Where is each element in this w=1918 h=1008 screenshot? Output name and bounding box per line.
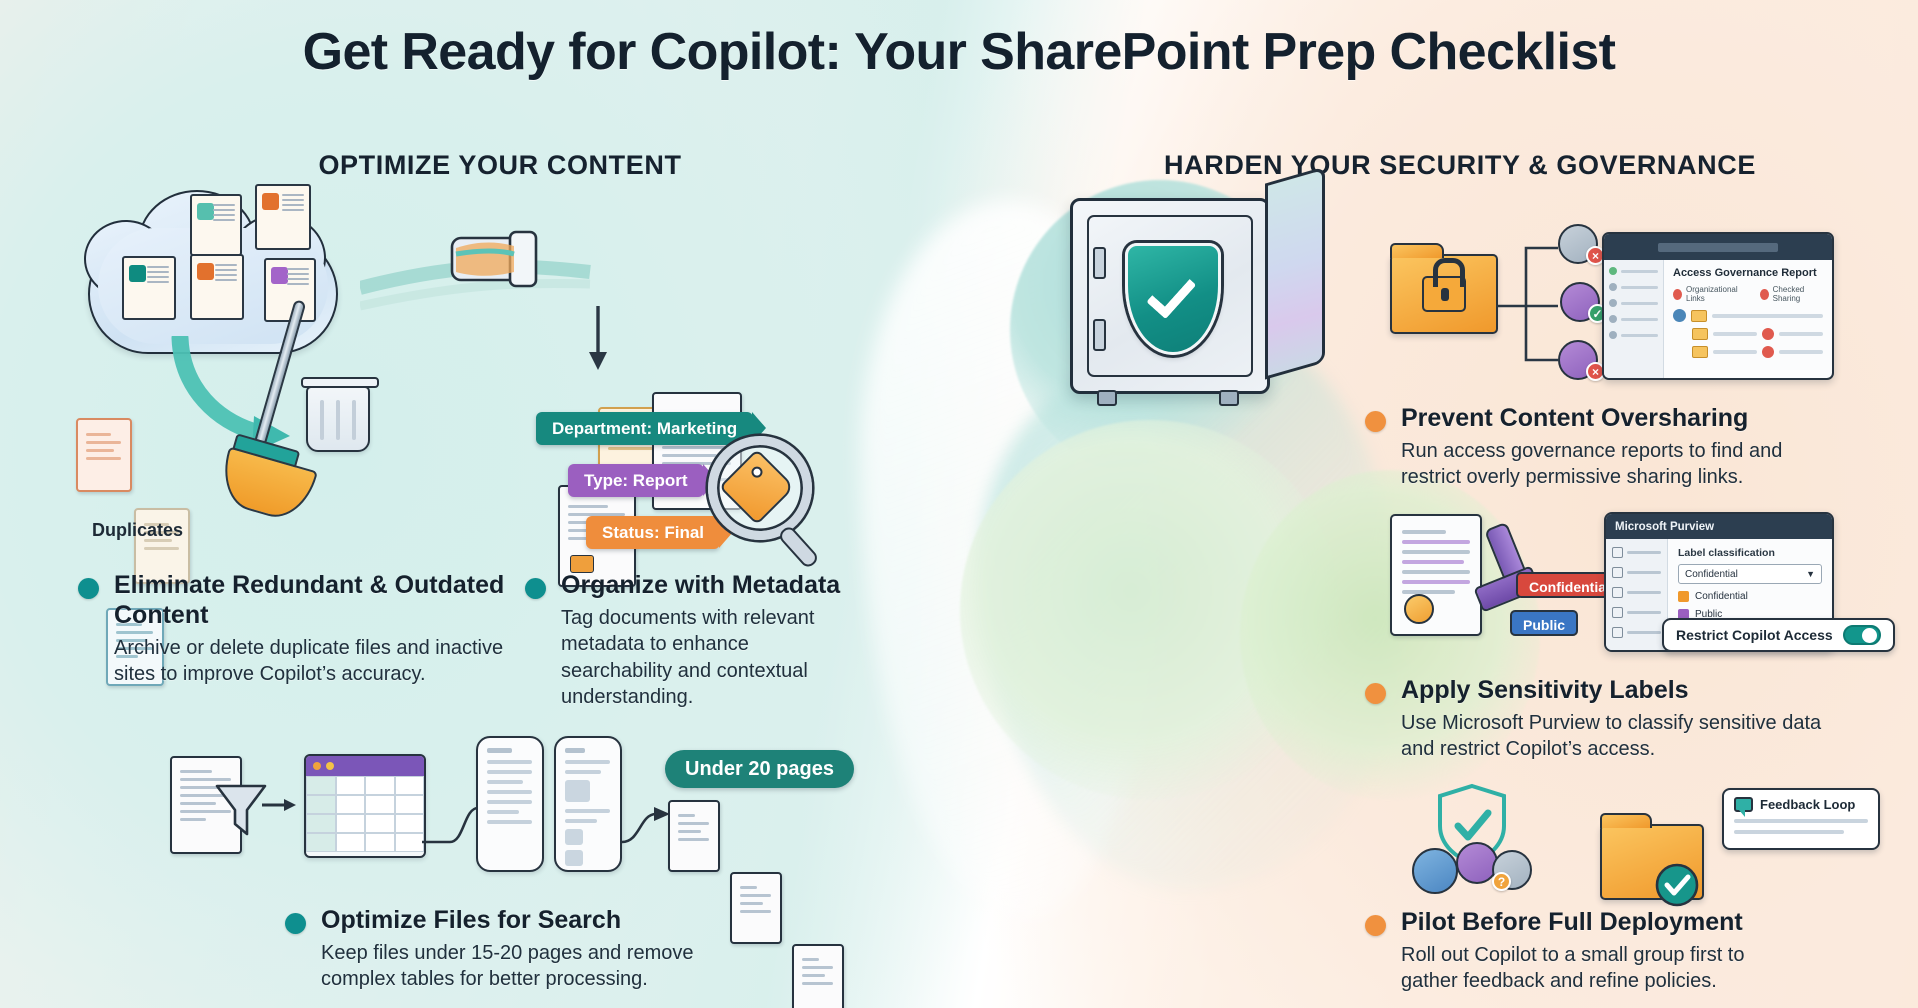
pilot-badge-icon: ? (1492, 872, 1511, 891)
label-classification-value: Confidential (1685, 569, 1738, 580)
vault-foot (1219, 390, 1239, 406)
sidebar-row (1609, 315, 1658, 323)
purview-nav-item (1612, 627, 1661, 638)
legend-item-2: Checked Sharing (1760, 285, 1823, 303)
report-row (1673, 309, 1823, 322)
checklist-item-organize-body: Tag documents with relevant metadata to … (561, 605, 855, 711)
checklist-item-sensitivity: Apply Sensitivity Labels Use Microsoft P… (1365, 675, 1855, 763)
metadata-tag-status: Status: Final (586, 516, 720, 549)
flow-connector-1-icon (422, 802, 482, 848)
table-ui-titlebar (306, 756, 424, 776)
optimized-doc (730, 872, 782, 944)
checklist-item-eliminate: Eliminate Redundant & Outdated Content A… (78, 570, 508, 688)
feedback-line (1734, 830, 1844, 834)
sidebar-row (1609, 283, 1658, 291)
duplicates-label: Duplicates (92, 520, 183, 541)
complex-table-ui (304, 754, 426, 858)
illustration-pilot-deployment: ? (1400, 790, 1620, 920)
pilot-user-1 (1412, 848, 1458, 894)
checklist-item-pilot-title: Pilot Before Full Deployment (1401, 907, 1805, 937)
report-title: Access Governance Report (1673, 267, 1823, 279)
long-scroll-doc-2 (554, 736, 622, 872)
vault-side-panel (1265, 166, 1325, 379)
checkmark-icon (1146, 268, 1196, 320)
illustration-access-governance: × ✓ × (1390, 222, 1620, 382)
label-classification-select[interactable]: Confidential ▼ (1678, 564, 1822, 584)
folder-tab (1390, 243, 1444, 258)
bullet-icon (78, 578, 99, 599)
folder-check-icon (1654, 862, 1700, 908)
checklist-item-oversharing: Prevent Content Oversharing Run access g… (1365, 403, 1825, 491)
report-row (1673, 346, 1823, 358)
report-row (1673, 328, 1823, 340)
long-scroll-doc-1 (476, 736, 544, 872)
vault-hinge-icon (1093, 319, 1106, 351)
restrict-copilot-access-toggle[interactable] (1843, 625, 1881, 645)
vault-foot (1097, 390, 1117, 406)
page-title: Get Ready for Copilot: Your SharePoint P… (0, 22, 1918, 82)
section-heading-left: OPTIMIZE YOUR CONTENT (120, 150, 880, 181)
document-seal-icon (1404, 594, 1434, 624)
checklist-item-sensitivity-title: Apply Sensitivity Labels (1401, 675, 1855, 705)
sensitivity-pill-public: Public (1510, 610, 1578, 636)
optimized-doc (792, 944, 844, 1008)
checklist-item-organize-title: Organize with Metadata (561, 570, 855, 600)
folder-tab (1600, 813, 1652, 828)
illustration-metadata-pipeline (360, 210, 720, 410)
checklist-item-organize: Organize with Metadata Tag documents wit… (525, 570, 855, 711)
cloud-file-excel (255, 184, 311, 250)
purview-nav-item (1612, 567, 1661, 578)
classified-document (1390, 514, 1482, 636)
sidebar-row (1609, 267, 1658, 275)
flow-arrow-1-icon (262, 796, 296, 814)
checklist-item-optimize-files-body: Keep files under 15-20 pages and remove … (321, 940, 705, 993)
sidebar-row (1609, 299, 1658, 307)
cloud-file-doc (122, 256, 176, 320)
metadata-down-arrow-icon (578, 306, 618, 376)
feedback-loop-header: Feedback Loop (1734, 797, 1868, 812)
bullet-icon (1365, 915, 1386, 936)
checklist-item-sensitivity-body: Use Microsoft Purview to classify sensit… (1401, 710, 1855, 763)
checklist-item-oversharing-body: Run access governance reports to find an… (1401, 438, 1825, 491)
purview-nav-item (1612, 607, 1661, 618)
checklist-item-optimize-files: Optimize Files for Search Keep files und… (285, 905, 705, 993)
section-heading-right: HARDEN YOUR SECURITY & GOVERNANCE (1060, 150, 1860, 181)
chevron-down-icon: ▼ (1806, 569, 1815, 579)
titlebar-placeholder (1658, 243, 1778, 252)
security-vault-icon (1070, 198, 1270, 394)
bullet-icon (1365, 683, 1386, 704)
report-sidebar[interactable] (1604, 260, 1664, 378)
metadata-tag-department-label: Department: Marketing (552, 419, 737, 438)
pages-badge: Under 20 pages (665, 750, 854, 788)
feedback-line (1734, 819, 1868, 823)
sidebar-row (1609, 331, 1658, 339)
checklist-item-oversharing-title: Prevent Content Oversharing (1401, 403, 1825, 433)
illustration-file-optimization (170, 740, 700, 880)
illustration-sensitivity-labels: Confidential Public (1390, 510, 1630, 670)
cloud-file-pdf (190, 254, 244, 320)
purview-nav-item (1612, 587, 1661, 598)
infographic-canvas: Get Ready for Copilot: Your SharePoint P… (0, 0, 1918, 1008)
metadata-tag-status-label: Status: Final (602, 523, 704, 542)
legend-item-2-label: Checked Sharing (1773, 285, 1823, 303)
purview-option-confidential[interactable]: Confidential (1678, 591, 1822, 602)
purview-nav-item (1612, 547, 1661, 558)
purview-sidebar[interactable] (1606, 539, 1668, 650)
access-governance-report-window[interactable]: Access Governance Report Organizational … (1602, 232, 1834, 380)
window-titlebar (1604, 234, 1832, 260)
funnel-icon (214, 780, 268, 838)
cloud-file-ppt (190, 194, 242, 256)
checklist-item-optimize-files-title: Optimize Files for Search (321, 905, 705, 935)
legend-item-1-label: Organizational Links (1686, 285, 1746, 303)
metadata-tag-type: Type: Report (568, 464, 704, 497)
bullet-icon (525, 578, 546, 599)
report-legend: Organizational Links Checked Sharing (1673, 285, 1823, 303)
window-body: Access Governance Report Organizational … (1604, 260, 1832, 378)
label-classification-label: Label classification (1678, 547, 1822, 559)
feedback-loop-label: Feedback Loop (1760, 797, 1855, 812)
table-ui-grid (306, 776, 424, 852)
illustration-metadata-tags: Department: Marketing Type: Report Statu… (540, 400, 840, 560)
bullet-icon (1365, 411, 1386, 432)
pipeline-flow-icon (360, 210, 720, 410)
checklist-item-eliminate-title: Eliminate Redundant & Outdated Content (114, 570, 508, 630)
purview-option-confidential-label: Confidential (1695, 591, 1748, 602)
restrict-copilot-access-card[interactable]: Restrict Copilot Access (1662, 618, 1895, 652)
illustration-optimized-docs (668, 800, 868, 884)
restrict-copilot-access-label: Restrict Copilot Access (1676, 627, 1833, 643)
report-content: Access Governance Report Organizational … (1664, 260, 1832, 378)
vault-hinge-icon (1093, 247, 1106, 279)
metadata-tag-type-label: Type: Report (584, 471, 688, 490)
duplicate-doc-orange (76, 418, 132, 492)
metadata-tag-department: Department: Marketing (536, 412, 753, 445)
purview-titlebar: Microsoft Purview (1606, 514, 1832, 539)
checklist-item-eliminate-body: Archive or delete duplicate files and in… (114, 635, 508, 688)
padlock-icon (1422, 276, 1466, 312)
feedback-loop-card: Feedback Loop (1722, 788, 1880, 850)
checklist-item-pilot: Pilot Before Full Deployment Roll out Co… (1365, 907, 1805, 995)
bullet-icon (285, 913, 306, 934)
checklist-item-pilot-body: Roll out Copilot to a small group first … (1401, 942, 1805, 995)
chat-bubble-icon (1734, 797, 1753, 812)
optimized-doc (668, 800, 720, 872)
legend-item-1: Organizational Links (1673, 285, 1746, 303)
